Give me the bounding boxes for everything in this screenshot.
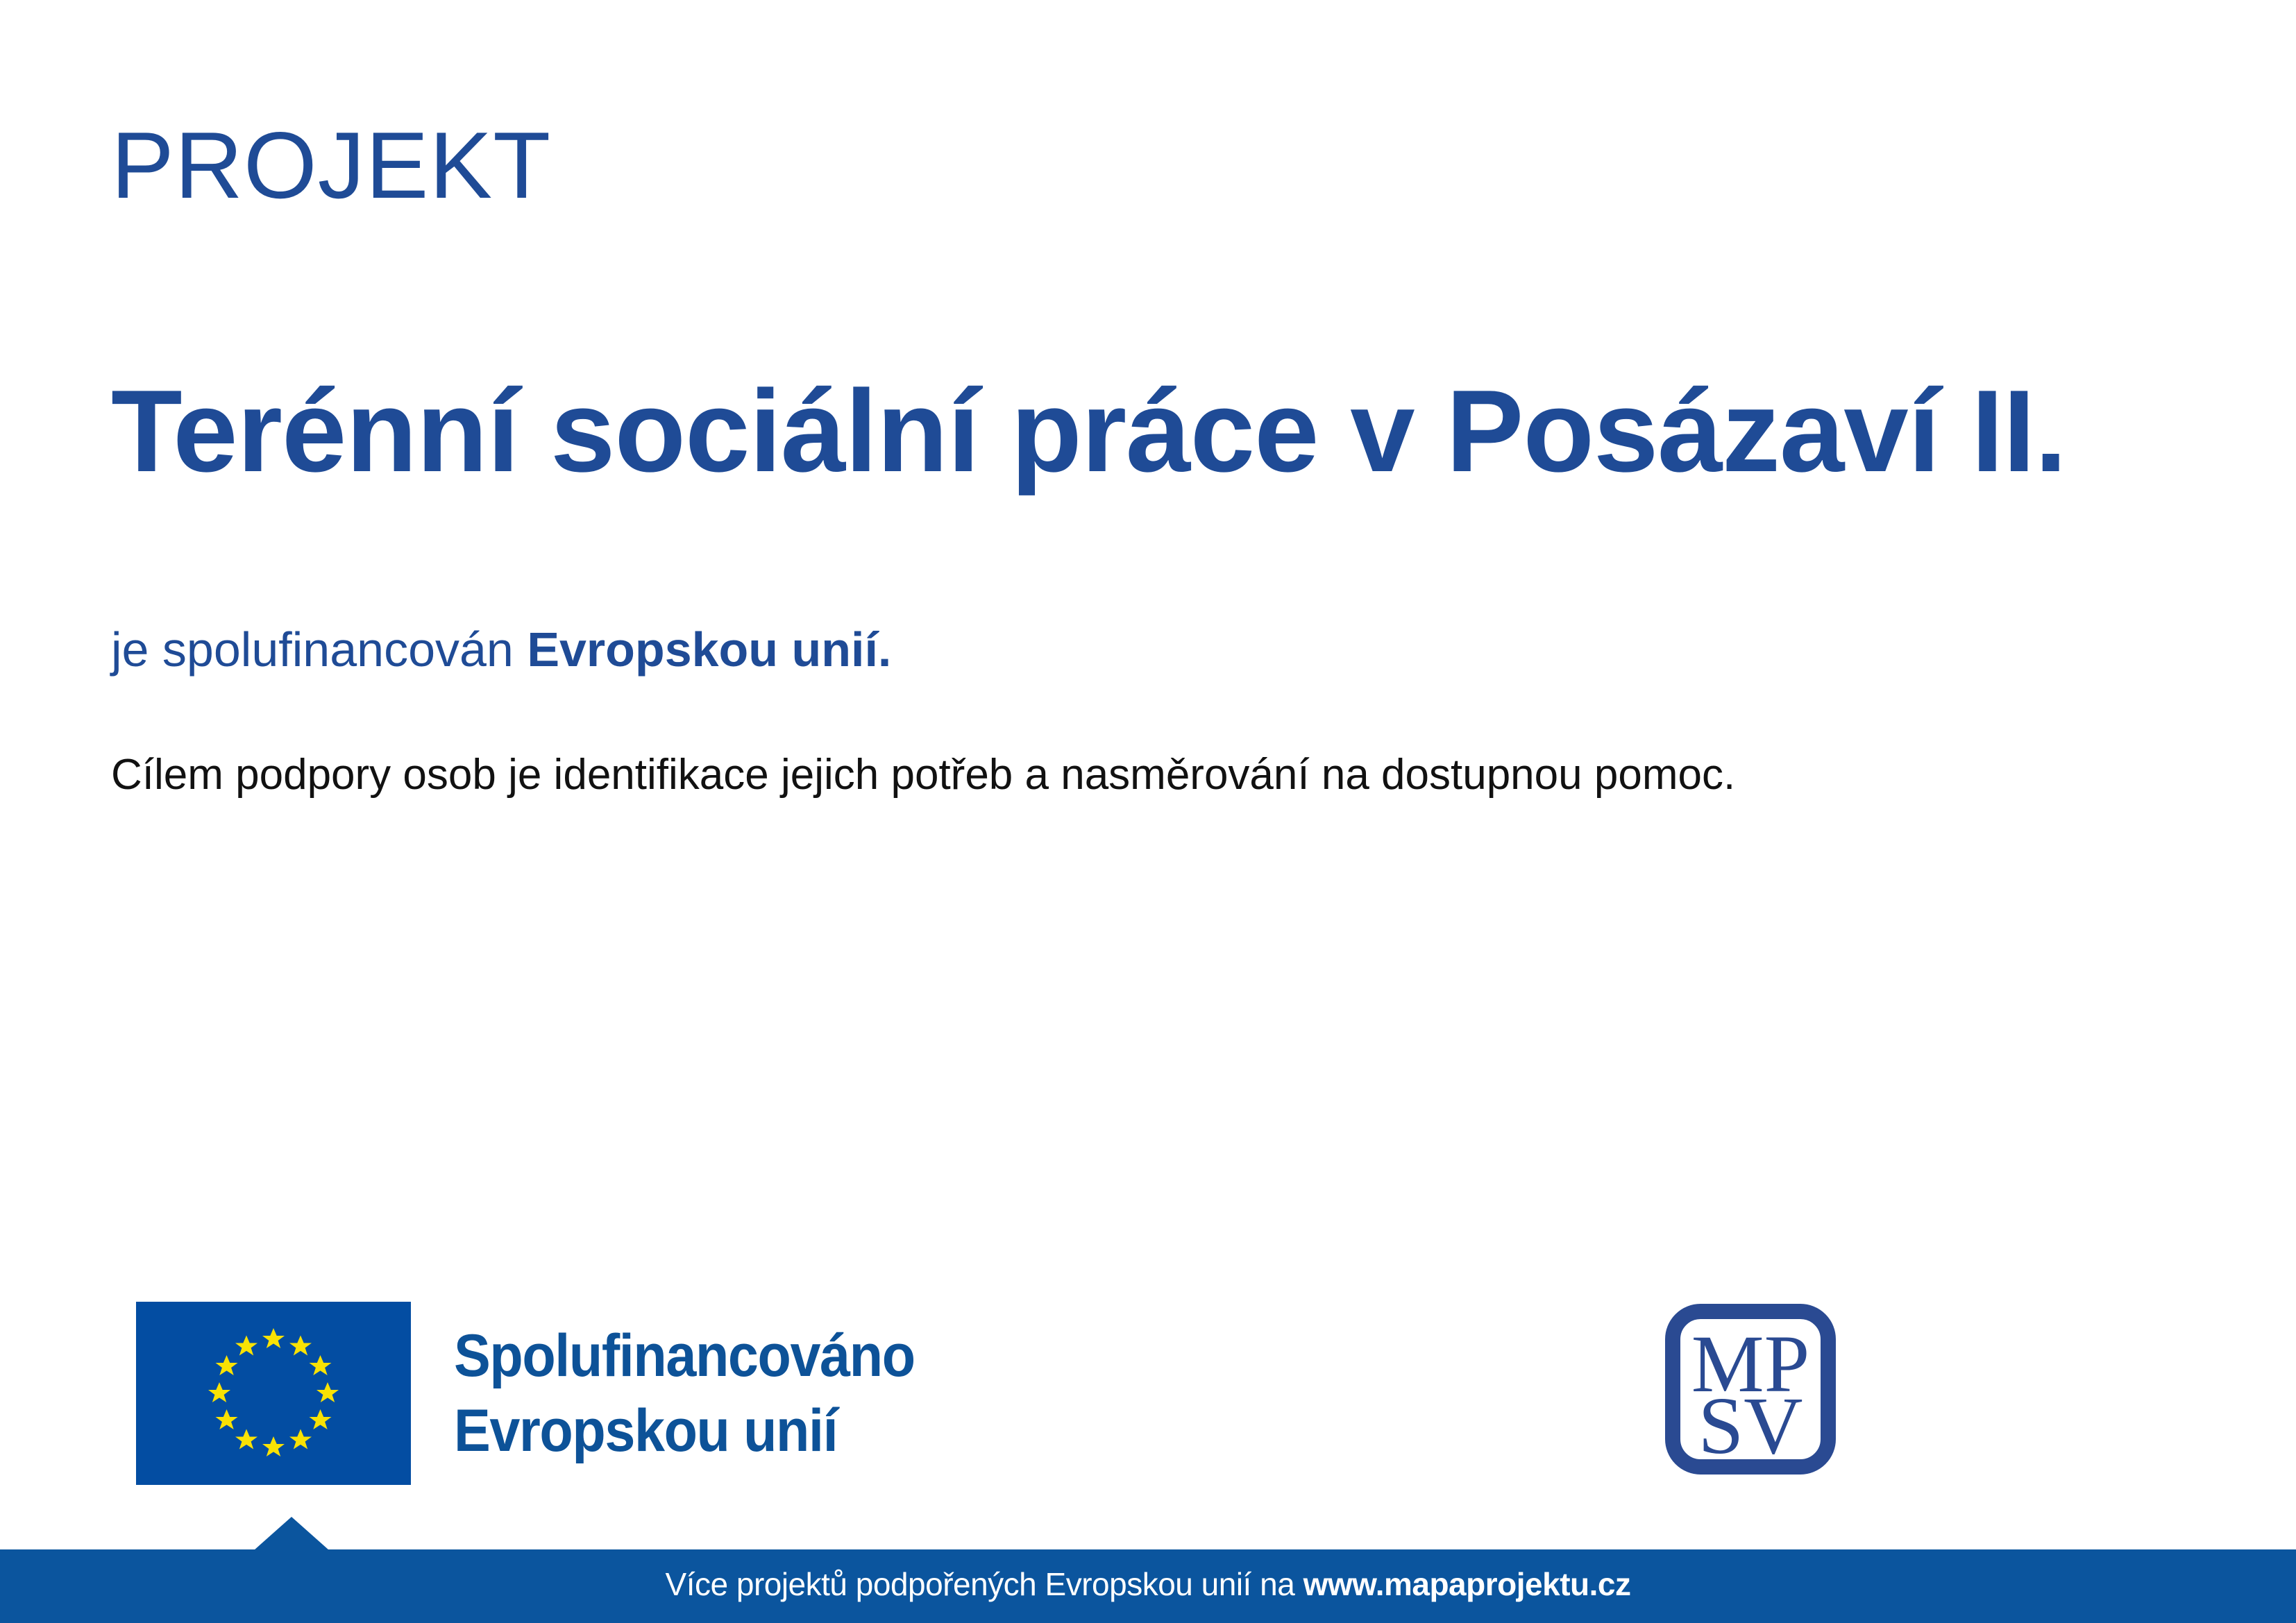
eu-logo-line1: Spolufinancováno [454,1318,915,1393]
eu-cofunding-logo: Spolufinancováno Evropskou unií [136,1302,954,1485]
project-description: Cílem podpory osob je identifikace jejic… [111,749,1735,801]
bottom-bar-text-prefix: Více projektů podpořených Evropskou unií… [666,1566,1303,1602]
funding-subtitle-strong: Evropskou unií. [527,622,891,677]
bar-pointer-arrow-icon [254,1517,329,1550]
eu-logo-line2: Evropskou unií [454,1393,915,1468]
funding-subtitle: je spolufinancován Evropskou unií. [111,622,891,678]
eu-logo-text: Spolufinancováno Evropskou unií [454,1318,915,1468]
kicker-label: PROJEKT [111,118,551,212]
funding-subtitle-prefix: je spolufinancován [111,622,527,677]
poster-canvas: PROJEKT Terénní sociální práce v Posázav… [0,0,2296,1623]
bottom-bar-url[interactable]: www.mapaprojektu.cz [1303,1566,1631,1602]
eu-stars-icon [136,1302,411,1485]
page-title: Terénní sociální práce v Posázaví II. [111,357,2124,504]
bottom-bar-text: Více projektů podpořených Evropskou unií… [0,1565,2296,1604]
mpsv-logo-icon: MP SV [1665,1304,1836,1475]
eu-flag-icon [136,1302,411,1485]
mpsv-letters-bottom: SV [1698,1380,1803,1471]
